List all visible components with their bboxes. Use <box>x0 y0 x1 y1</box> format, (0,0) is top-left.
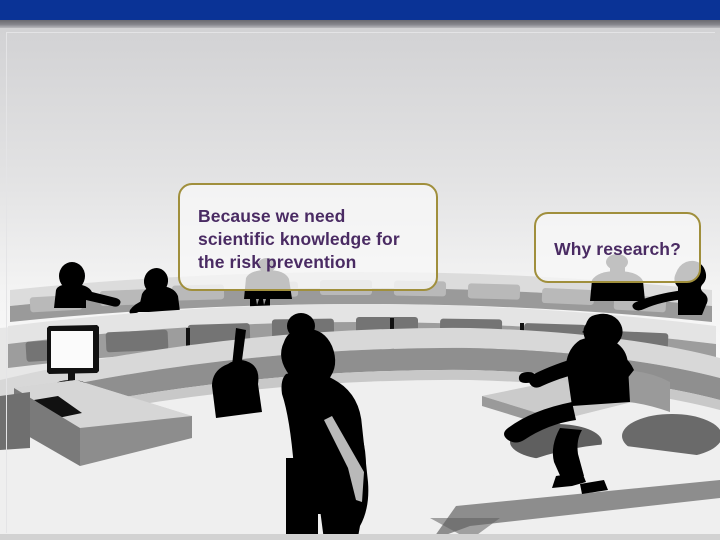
slide-canvas: Because we need scientific knowledge for… <box>0 0 720 540</box>
bubble-1-line-3: the risk prevention <box>198 251 436 274</box>
slide-content-area: Because we need scientific knowledge for… <box>0 28 720 540</box>
bubble-1-line-2: scientific knowledge for <box>198 228 436 251</box>
bubble-2-line-1: Why research? <box>554 239 681 259</box>
teacher-desk-back-leg <box>0 392 30 450</box>
slide-bottom-edge <box>0 534 720 540</box>
question-speech-bubble: Why research? <box>534 212 701 283</box>
answer-speech-bubble: Because we need scientific knowledge for… <box>178 183 438 291</box>
top-blue-band <box>0 0 720 20</box>
top-shadow-strip <box>0 20 720 28</box>
bubble-1-line-1: Because we need <box>198 205 436 228</box>
